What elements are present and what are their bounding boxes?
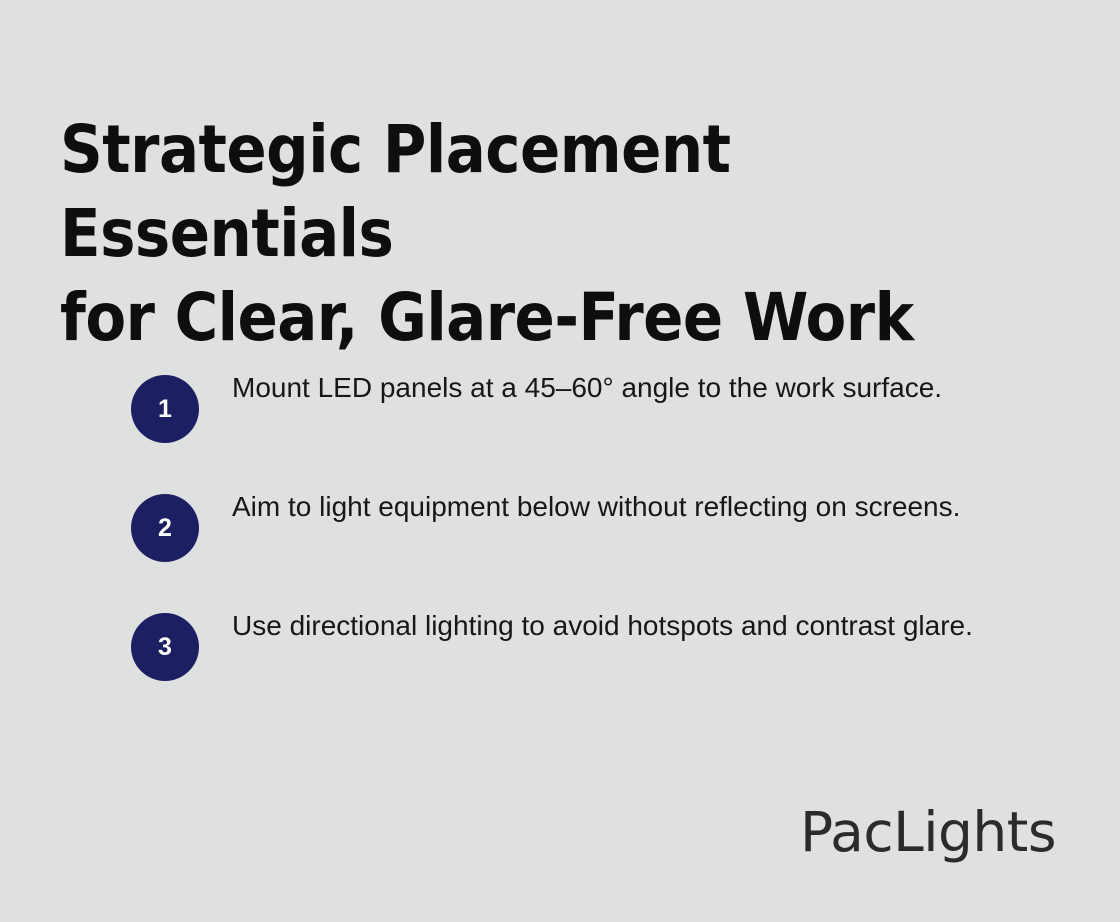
step-text: Mount LED panels at a 45–60° angle to th… [199, 366, 1071, 409]
brand-logo: PacLights [800, 805, 1056, 860]
list-item: 2 Aim to light equipment below without r… [131, 485, 1071, 562]
slide-canvas: Strategic Placement Essentials for Clear… [0, 0, 1120, 922]
page-title: Strategic Placement Essentials for Clear… [60, 108, 1070, 360]
list-item: 3 Use directional lighting to avoid hots… [131, 604, 1071, 681]
step-text: Aim to light equipment below without ref… [199, 485, 1071, 528]
list-item: 1 Mount LED panels at a 45–60° angle to … [131, 366, 1071, 443]
step-number-badge: 3 [131, 613, 199, 681]
steps-list: 1 Mount LED panels at a 45–60° angle to … [131, 366, 1071, 681]
step-text: Use directional lighting to avoid hotspo… [199, 604, 1071, 647]
step-number-badge: 2 [131, 494, 199, 562]
step-number-badge: 1 [131, 375, 199, 443]
